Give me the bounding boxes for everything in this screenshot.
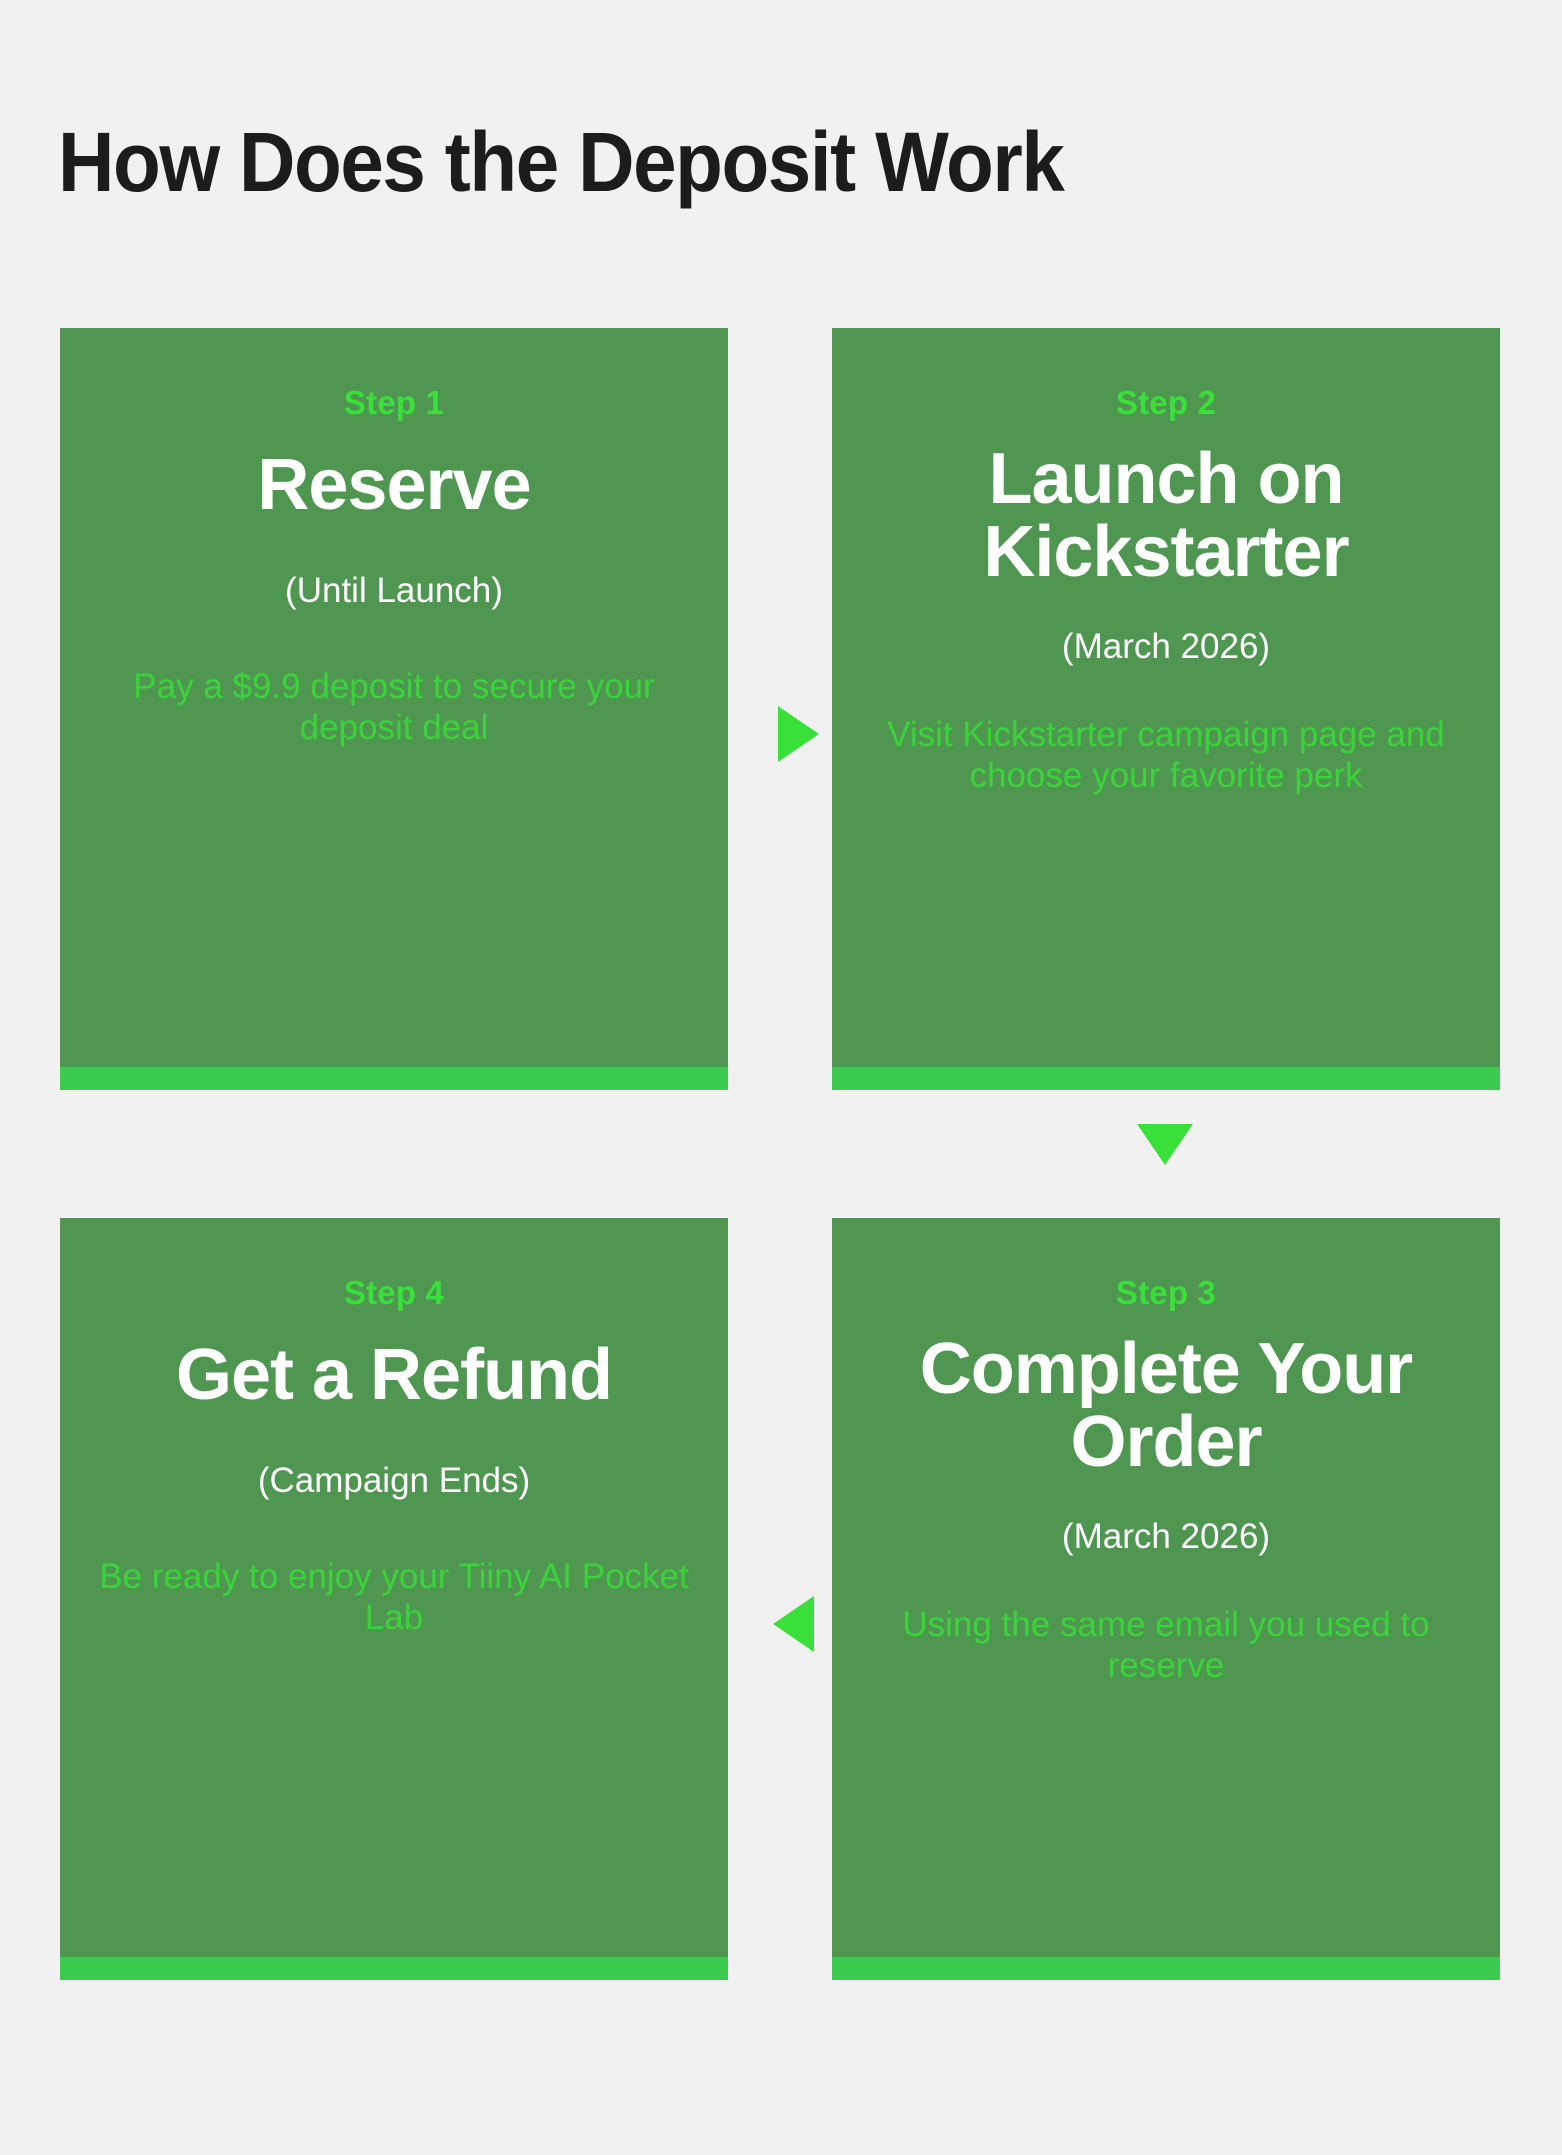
step-card-1-title: Reserve bbox=[257, 449, 530, 522]
step-card-2-description: Visit Kickstarter campaign page and choo… bbox=[866, 714, 1466, 797]
step-card-2-body: Step 2 Launch on Kickstarter (March 2026… bbox=[832, 328, 1500, 1067]
step-card-3-step-label: Step 3 bbox=[1116, 1276, 1216, 1311]
arrow-left-icon bbox=[773, 1596, 814, 1652]
step-card-4-body: Step 4 Get a Refund (Campaign Ends) Be r… bbox=[60, 1218, 728, 1957]
step-card-1-subtitle: (Until Launch) bbox=[285, 570, 503, 612]
page-title: How Does the Deposit Work bbox=[58, 120, 1360, 204]
step-card-3-accent-bar bbox=[832, 1957, 1500, 1980]
step-card-4-accent-bar bbox=[60, 1957, 728, 1980]
step-card-1-body: Step 1 Reserve (Until Launch) Pay a $9.9… bbox=[60, 328, 728, 1067]
step-card-4-step-label: Step 4 bbox=[344, 1276, 444, 1311]
step-card-3-subtitle: (March 2026) bbox=[1062, 1516, 1270, 1558]
step-card-3: Step 3 Complete Your Order (March 2026) … bbox=[832, 1218, 1500, 1980]
step-card-2-step-label: Step 2 bbox=[1116, 386, 1216, 421]
step-card-1-accent-bar bbox=[60, 1067, 728, 1090]
arrow-down-icon bbox=[1137, 1124, 1193, 1165]
step-card-4-description: Be ready to enjoy your Tiiny AI Pocket L… bbox=[94, 1556, 694, 1639]
step-card-1-description: Pay a $9.9 deposit to secure your deposi… bbox=[94, 666, 694, 749]
step-card-2-subtitle: (March 2026) bbox=[1062, 626, 1270, 668]
step-card-4-subtitle: (Campaign Ends) bbox=[258, 1460, 530, 1502]
infographic-page: How Does the Deposit Work Step 1 Reserve… bbox=[0, 0, 1562, 2155]
step-card-3-body: Step 3 Complete Your Order (March 2026) … bbox=[832, 1218, 1500, 1957]
step-card-2-title: Launch on Kickstarter bbox=[866, 443, 1466, 590]
step-card-3-title: Complete Your Order bbox=[866, 1333, 1466, 1480]
step-card-4: Step 4 Get a Refund (Campaign Ends) Be r… bbox=[60, 1218, 728, 1980]
step-card-4-title: Get a Refund bbox=[176, 1339, 612, 1412]
step-card-1: Step 1 Reserve (Until Launch) Pay a $9.9… bbox=[60, 328, 728, 1090]
steps-grid: Step 1 Reserve (Until Launch) Pay a $9.9… bbox=[60, 328, 1500, 1980]
arrow-right-icon bbox=[778, 706, 819, 762]
step-card-1-step-label: Step 1 bbox=[344, 386, 444, 421]
step-card-2-accent-bar bbox=[832, 1067, 1500, 1090]
step-card-2: Step 2 Launch on Kickstarter (March 2026… bbox=[832, 328, 1500, 1090]
step-card-3-description: Using the same email you used to reserve bbox=[866, 1604, 1466, 1687]
